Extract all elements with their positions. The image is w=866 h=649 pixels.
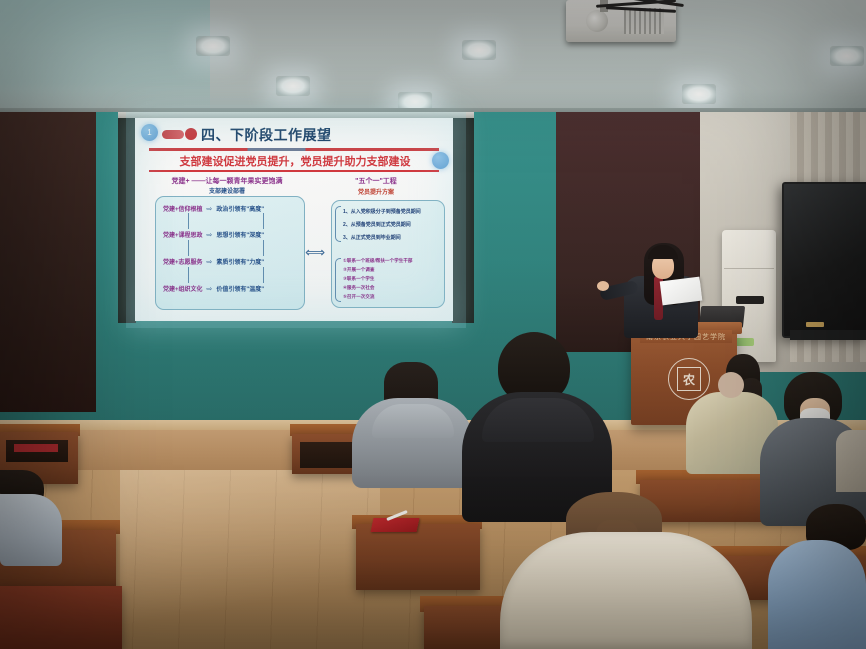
right-arrow-icon: ⇨	[207, 285, 213, 293]
presentation-slide: 1 四、下阶段工作展望 支部建设促进党员提升，党员提升助力支部建设 党建+ ——…	[135, 118, 453, 321]
lecture-hall-photo: 1 四、下阶段工作展望 支部建设促进党员提升，党员提升助力支部建设 党建+ ——…	[0, 0, 866, 649]
slide-title-dot-icon	[185, 128, 197, 140]
task-item: ③联系一个学生	[343, 276, 374, 282]
floor-reflection	[120, 470, 380, 649]
stage-brace	[335, 206, 341, 242]
left-row: 党建+志愿服务 ⇨ 素质引领有"力度"	[163, 257, 264, 266]
left-row-result: 价值引领有"温度"	[216, 284, 264, 293]
left-row: 党建+组织文化 ⇨ 价值引领有"温度"	[163, 284, 264, 293]
bidirectional-arrow-icon: ⟺	[305, 244, 325, 261]
tv-stand	[790, 330, 866, 340]
right-arrow-icon: ⇨	[207, 205, 213, 213]
university-emblem: 农	[668, 358, 710, 400]
ceiling-tint	[0, 0, 210, 118]
slide-number-badge: 1	[141, 124, 158, 141]
knit-sweater	[500, 532, 752, 649]
right-column-heading: "五个一"工程	[311, 176, 441, 186]
speaker-hand	[597, 281, 609, 291]
left-connector	[188, 267, 189, 283]
task-item: ⑤召开一次交流	[343, 294, 374, 300]
left-connector	[263, 267, 264, 283]
wall-television	[782, 182, 866, 338]
projection-screen: 1 四、下阶段工作展望 支部建设促进党员提升，党员提升助力支部建设 党建+ ——…	[135, 118, 453, 321]
task-item: ④服务一次社会	[343, 285, 374, 291]
left-connector	[188, 240, 189, 256]
left-dark-wall-panel	[0, 112, 96, 412]
right-arrow-icon: ⇨	[207, 258, 213, 266]
stage-item: 1、从入党积极分子到预备党员期间	[343, 208, 421, 215]
right-column-subheading: 党员提升方案	[311, 187, 441, 196]
left-row-source: 党建+课程思政	[163, 230, 203, 239]
red-book-left	[14, 444, 58, 452]
slide-subtitle: 支部建设促进党员提升，党员提升助力支部建设	[151, 153, 439, 169]
head	[718, 372, 744, 398]
left-row-source: 党建+志愿服务	[163, 257, 203, 266]
desk-middle-front-body	[356, 524, 480, 590]
tv-brand-label	[806, 322, 824, 327]
left-connector	[263, 213, 264, 229]
slide-title-rule	[149, 148, 439, 151]
left-row-result: 政治引领有"高度"	[216, 204, 264, 213]
ceiling-downlight	[462, 40, 496, 60]
screen-frame-right	[452, 118, 474, 323]
left-row-result: 素质引领有"力度"	[216, 257, 264, 266]
ceiling-downlight	[276, 76, 310, 96]
right-arrow-icon: ⇨	[207, 231, 213, 239]
light-jacket	[0, 494, 62, 566]
task-brace	[335, 258, 341, 302]
left-column-heading: 党建+ ——让每一颗青年果实更饱满	[157, 176, 297, 186]
stage-item: 3、从正式党员到毕业期间	[343, 234, 401, 241]
left-row-source: 党建+信仰根植	[163, 204, 203, 213]
right-content-box	[331, 200, 445, 308]
speaker-paper-notes	[660, 277, 703, 306]
ac-display-panel	[736, 296, 764, 304]
jacket-hood	[372, 404, 454, 438]
ac-panel-line	[724, 268, 774, 269]
hoodie-hood	[482, 398, 594, 442]
red-notebook	[371, 518, 420, 532]
screen-frame-left	[118, 118, 136, 323]
slide-title-bullet	[162, 130, 184, 139]
task-item: ②开展一个调查	[343, 267, 374, 273]
slide-subtitle-rule	[149, 170, 439, 172]
left-connector	[263, 240, 264, 256]
left-row: 党建+课程思政 ⇨ 思想引领有"深度"	[163, 230, 264, 239]
shoulder	[836, 430, 866, 492]
left-column-subheading: 支部建设部署	[157, 186, 297, 195]
emblem-letter: 农	[677, 367, 701, 391]
ceiling-downlight	[196, 36, 230, 56]
ceiling-downlight	[682, 84, 716, 104]
task-item: ①联系一个班级/帮扶一个学生干部	[343, 258, 412, 264]
left-connector	[188, 213, 189, 229]
left-row-source: 党建+组织文化	[163, 284, 203, 293]
left-row: 党建+信仰根植 ⇨ 政治引领有"高度"	[163, 204, 264, 213]
stage-item: 2、从预备党员到正式党员期间	[343, 221, 411, 228]
blue-jacket	[768, 540, 866, 649]
slide-title: 四、下阶段工作展望	[201, 125, 332, 145]
ceiling-downlight	[830, 46, 864, 66]
desk-left-foreground	[0, 586, 122, 649]
projector-cables	[596, 0, 692, 18]
left-row-result: 思想引领有"深度"	[216, 230, 264, 239]
